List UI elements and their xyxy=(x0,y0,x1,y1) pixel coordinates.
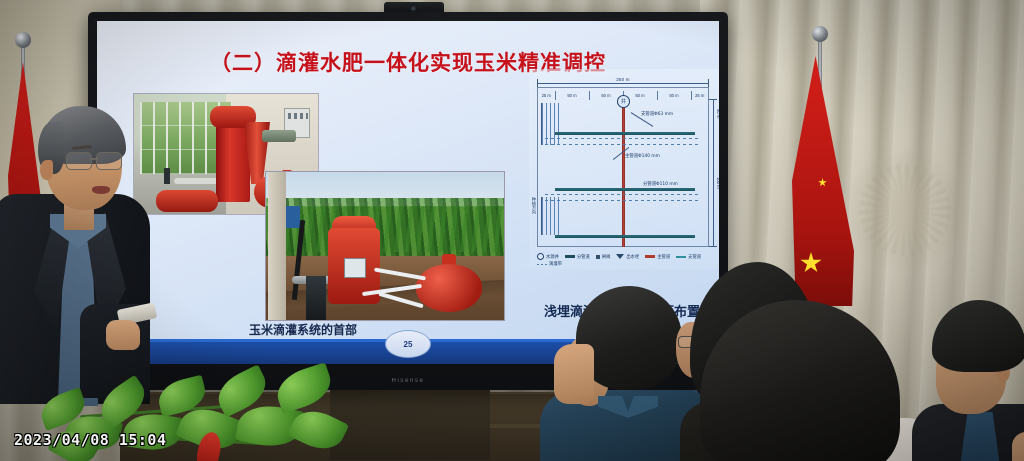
tv-brand-logo: Hisense xyxy=(392,378,425,384)
audience-4-hair xyxy=(932,300,1024,372)
sub-pipe-icon xyxy=(676,256,686,258)
diagram-hatch-region xyxy=(541,197,561,235)
irrigation-layout-diagram: 250 m 25 m 50 m 50 m 50 m 50 m 25 m xyxy=(529,69,719,269)
diagram-right-dimension-line xyxy=(709,99,717,247)
legend-item-main: 主管道 xyxy=(645,253,670,260)
flag-star-icon xyxy=(818,178,827,187)
diagram-right-dimension-label: 100 m xyxy=(716,177,719,189)
control-box xyxy=(286,206,300,228)
legend-label: 分管道 xyxy=(577,254,590,260)
diagram-branch-pipeline xyxy=(555,188,695,191)
diagram-drip-tape xyxy=(545,200,701,201)
diagram-legend: 水源井 分管道 闸阀 出水栓 xyxy=(537,253,713,267)
tv-stand-neck xyxy=(330,390,490,460)
fertilizer-tank-left xyxy=(156,190,218,212)
audience-member-3 xyxy=(700,300,900,461)
glasses-bridge xyxy=(90,158,98,160)
planting-direction-label: 种植方向 xyxy=(531,197,537,214)
glasses-icon xyxy=(66,152,124,170)
legend-item-hydrant: 出水栓 xyxy=(616,253,639,260)
main-pipe-icon xyxy=(645,255,655,258)
diagram-main-pipeline xyxy=(622,99,625,247)
hydrant-icon xyxy=(616,254,624,259)
field-photo xyxy=(265,171,505,321)
pump-house-pipe xyxy=(174,178,222,184)
valve-icon xyxy=(596,255,600,259)
diagram-branch-pipeline xyxy=(555,132,695,135)
water-source-well-icon xyxy=(617,95,630,108)
plant-leaf xyxy=(272,362,336,414)
main-pipe-annotation: 主管道Φ140 mm xyxy=(625,153,660,159)
pump-house-tap xyxy=(164,168,170,184)
audience-member-4 xyxy=(918,300,1024,461)
legend-item-well: 水源井 xyxy=(537,253,559,260)
legend-item-branch: 分管道 xyxy=(565,253,590,260)
well-icon xyxy=(537,253,544,260)
audience-3-hair xyxy=(700,300,900,461)
presenter-ear xyxy=(40,160,53,180)
wellhead xyxy=(306,276,326,321)
flag-finial-left xyxy=(15,32,31,48)
flag-finial-right xyxy=(812,26,828,42)
screenshot-scene: （二）滴灌水肥一体化实现玉米精准调控 xyxy=(0,0,1024,461)
fertigation-gauge-panel xyxy=(344,258,366,278)
legend-label: 主管道 xyxy=(657,254,670,260)
pump-outlet-arm xyxy=(262,130,296,142)
diagram-drip-tape xyxy=(545,194,701,195)
photo-left-caption: 玉米滴灌系统的首部 xyxy=(193,321,413,338)
presenter-mouth xyxy=(92,186,110,194)
legend-label: 滴灌带 xyxy=(549,261,562,267)
diagram-drip-tape xyxy=(545,144,701,145)
legend-label: 支管道 xyxy=(688,254,701,260)
diagram-total-dimension-line: 250 m xyxy=(537,79,709,87)
presenter xyxy=(0,108,164,398)
legend-label: 出水栓 xyxy=(626,254,639,260)
diagram-branch-pipeline xyxy=(555,235,695,238)
diagram-total-dimension-label: 250 m xyxy=(538,77,708,82)
diagram-right-dimension-label: 50 m xyxy=(716,109,719,118)
legend-item-sub: 支管道 xyxy=(676,253,701,260)
branch-pipe-annotation: 支管道Φ63 mm xyxy=(641,111,673,117)
field-post xyxy=(268,172,286,321)
pressure-tank xyxy=(416,264,482,312)
wall-emblem-decor xyxy=(845,150,965,270)
diagram-drip-tape xyxy=(545,138,701,139)
legend-label: 闸阀 xyxy=(602,254,611,260)
audience-1-hand xyxy=(554,344,594,404)
drip-tape-icon xyxy=(537,264,547,265)
slide-page-number: 25 xyxy=(385,330,431,358)
legend-item-valve: 闸阀 xyxy=(596,253,611,260)
branch-pipe-icon xyxy=(565,255,575,258)
legend-label: 水源井 xyxy=(546,254,559,260)
legend-item-drip: 滴灌带 xyxy=(537,261,562,267)
presenter-hand xyxy=(106,320,140,350)
camera-timestamp: 2023/04/08 15:04 xyxy=(14,431,167,449)
sub-pipe-annotation: 分管道Φ110 mm xyxy=(643,181,678,187)
